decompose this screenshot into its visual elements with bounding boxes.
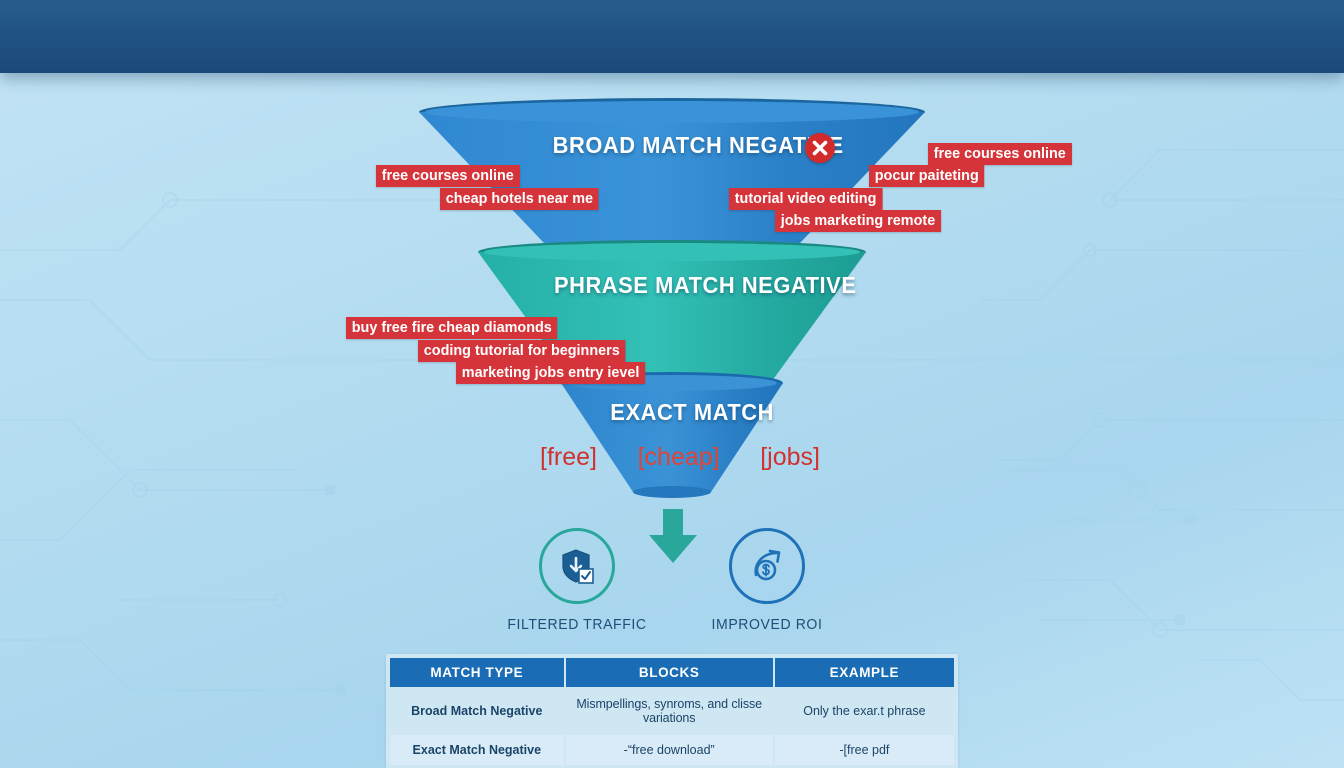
header-band: [0, 0, 1344, 73]
outcome-improved-roi: IMPROVED ROI: [687, 528, 847, 633]
dollar-growth-arrow-icon: [729, 528, 805, 604]
stage-label-broad-match: BROAD MATCH NEGATIVE: [553, 132, 844, 159]
table-row: Broad Match Negative Mismpellings, synro…: [390, 689, 954, 733]
exact-term-free: [free]: [540, 443, 597, 472]
cell-match-type: Exact Match Negative: [390, 735, 564, 765]
table-header-row: MATCH TYPE BLOCKS EXAMPLE: [390, 658, 954, 687]
keyword-chip: free courses online: [928, 143, 1072, 165]
keyword-chip: buy free fire cheap diamonds: [346, 317, 558, 339]
keyword-chip: jobs marketing remote: [775, 210, 941, 232]
cell-match-type: Broad Match Negative: [390, 689, 564, 733]
match-type-table: MATCH TYPE BLOCKS EXAMPLE Broad Match Ne…: [386, 654, 958, 768]
stage-label-exact-match: EXACT MATCH: [610, 399, 774, 426]
keyword-chip-garbled: pocur paiteting: [869, 165, 985, 187]
keyword-chip: marketing jobs entry ievel: [456, 362, 645, 384]
keyword-chip: free courses online: [376, 165, 520, 187]
outcome-label: FILTERED TRAFFIC: [499, 617, 654, 633]
cell-blocks: Mismpellings, synroms, and clisse variat…: [566, 689, 773, 733]
keyword-chip: tutorial video editing: [729, 188, 882, 210]
exact-term-cheap: [cheap]: [638, 443, 720, 472]
infographic-canvas: NEGATIVE ADS NEYWORDS STRATEGY IN GOOGLE…: [0, 0, 1344, 768]
cell-blocks: -“free download”: [566, 735, 773, 765]
column-header-example: EXAMPLE: [775, 658, 954, 687]
outcome-filtered-traffic: FILTERED TRAFFIC: [497, 528, 657, 633]
keyword-chip: coding tutorial for beginners: [418, 340, 626, 362]
stage-label-phrase-match: PHRASE MATCH NEGATIVE: [554, 272, 857, 299]
exact-term-jobs: [jobs]: [760, 443, 820, 472]
column-header-match-type: MATCH TYPE: [390, 658, 564, 687]
shield-check-download-icon: [539, 528, 615, 604]
exact-match-terms: [free] [cheap] [jobs]: [540, 443, 820, 472]
funnel-diagram: [0, 0, 1344, 768]
cell-example: Only the exar.t phrase: [775, 689, 954, 733]
cell-example: -[free pdf: [775, 735, 954, 765]
table-row: Exact Match Negative -“free download” -[…: [390, 735, 954, 765]
outcome-label: IMPROVED ROI: [689, 617, 844, 633]
column-header-blocks: BLOCKS: [566, 658, 773, 687]
x-circle-icon: [805, 133, 835, 163]
funnel-stage-exact: [561, 372, 783, 498]
keyword-chip: cheap hotels near me: [440, 188, 599, 210]
